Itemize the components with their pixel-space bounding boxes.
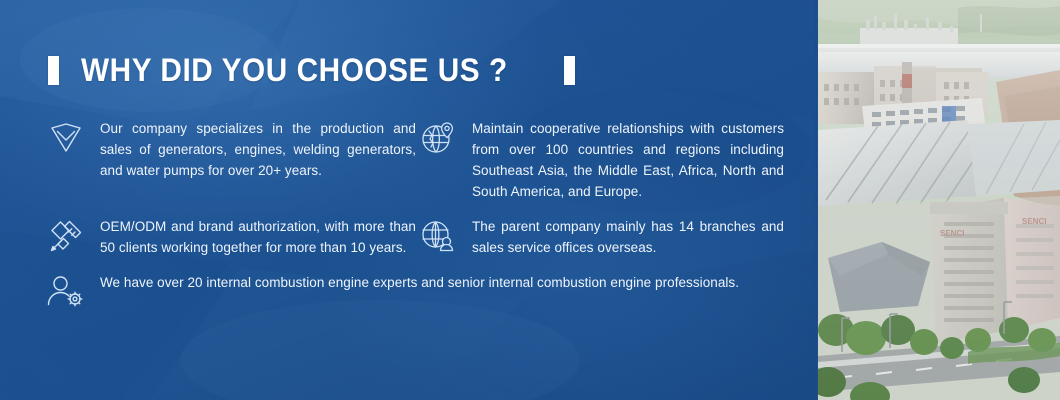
feature-text: OEM/ODM and brand authorization, with mo… <box>100 214 416 258</box>
page-title: WHY DID YOU CHOOSE US ? <box>81 52 508 89</box>
feature-item-experts: We have over 20 internal combustion engi… <box>44 270 784 314</box>
features-list: Our company specializes in the productio… <box>44 116 784 314</box>
feature-item-oem-odm: OEM/ODM and brand authorization, with mo… <box>44 214 416 258</box>
user-gear-icon <box>44 270 88 314</box>
feature-text: Our company specializes in the productio… <box>100 116 416 181</box>
globe-network-icon <box>416 214 460 258</box>
blue-content-panel: WHY DID YOU CHOOSE US ? Our company spec… <box>0 0 818 400</box>
why-choose-us-banner: WHY DID YOU CHOOSE US ? Our company spec… <box>0 0 1060 400</box>
features-row-2: OEM/ODM and brand authorization, with mo… <box>44 214 784 258</box>
banner-title-row: WHY DID YOU CHOOSE US ? <box>48 48 575 92</box>
pen-ruler-icon <box>44 214 88 258</box>
title-marker-right-icon <box>564 56 575 85</box>
diamond-gem-icon <box>44 116 88 160</box>
features-row-1: Our company specializes in the productio… <box>44 116 784 202</box>
factory-aerial-photo: SENCI SENCI <box>818 0 1060 400</box>
feature-text: The parent company mainly has 14 branche… <box>472 214 784 258</box>
feature-item-production: Our company specializes in the productio… <box>44 116 416 202</box>
feature-text: We have over 20 internal combustion engi… <box>100 270 739 293</box>
globe-location-pin-icon <box>416 116 460 160</box>
feature-item-branches: The parent company mainly has 14 branche… <box>416 214 784 258</box>
features-row-3: We have over 20 internal combustion engi… <box>44 270 784 314</box>
feature-item-global-customers: Maintain cooperative relationships with … <box>416 116 784 202</box>
title-marker-left-icon <box>48 56 59 85</box>
feature-text: Maintain cooperative relationships with … <box>472 116 784 202</box>
